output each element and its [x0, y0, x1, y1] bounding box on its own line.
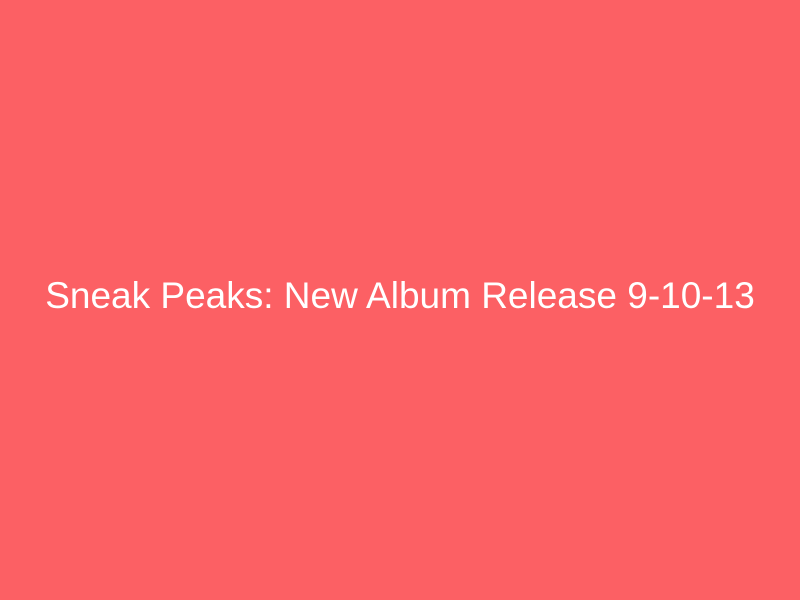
- banner-caption: Sneak Peaks: New Album Release 9-10-13: [0, 275, 800, 318]
- placeholder-banner: Sneak Peaks: New Album Release 9-10-13: [0, 0, 800, 600]
